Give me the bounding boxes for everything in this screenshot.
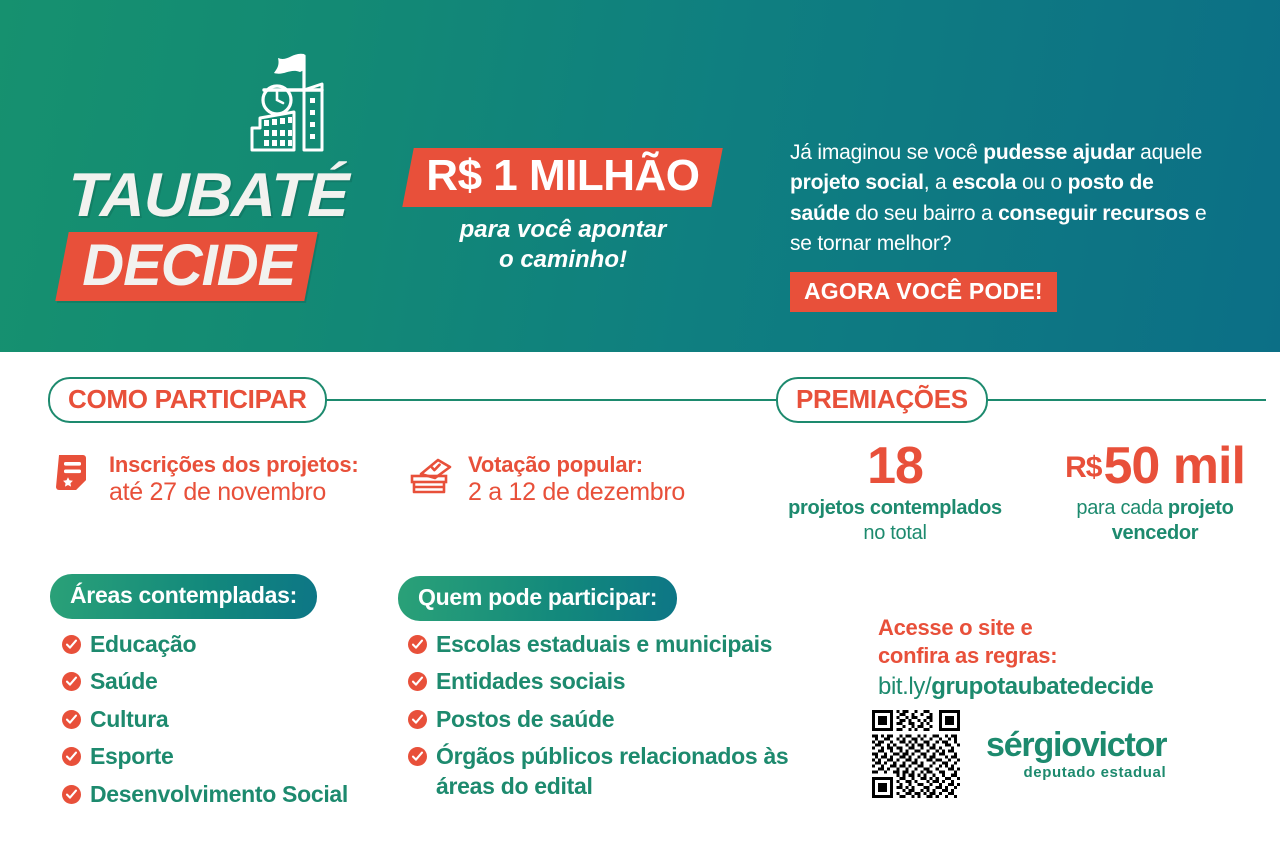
- signature-name: sérgiovictor: [986, 728, 1166, 762]
- signature-role: deputado estadual: [986, 764, 1166, 781]
- date-text-inscricoes: Inscrições dos projetos: até 27 de novem…: [109, 452, 359, 507]
- para-bold5: conseguir recursos: [998, 202, 1189, 225]
- date-text-votacao: Votação popular: 2 a 12 de dezembro: [468, 452, 685, 507]
- list-quem-pode-participar: Escolas estaduais e municipais Entidades…: [408, 630, 828, 809]
- list-item-label: Postos de saúde: [436, 705, 614, 734]
- list-item-label: Órgãos públicos relacionados às áreas do…: [436, 742, 828, 801]
- label-quem-text: Quem pode participar:: [418, 584, 657, 610]
- list-item: Educação: [62, 630, 402, 659]
- list-item-label: Entidades sociais: [436, 667, 625, 696]
- amount-banner: R$ 1 MILHÃO: [402, 148, 723, 207]
- site-info-block: Acesse o site e confira as regras: bit.l…: [878, 614, 1208, 702]
- prize-sub-rest-50: vencedor: [1112, 522, 1199, 544]
- logo-line-decide: DECIDE: [82, 236, 295, 295]
- qr-signature-row: sérgiovictor deputado estadual: [872, 710, 1166, 798]
- prize-value-50: R$50 mil: [1030, 440, 1280, 492]
- label-areas-contempladas: Áreas contempladas:: [50, 574, 317, 619]
- list-item: Cultura: [62, 705, 402, 734]
- date-value-votacao: 2 a 12 de dezembro: [468, 477, 685, 507]
- section-title-premiacoes: PREMIAÇÕES: [796, 384, 968, 414]
- site-url-slug: grupotaubatedecide: [931, 673, 1153, 700]
- list-item: Órgãos públicos relacionados às áreas do…: [408, 742, 828, 801]
- date-title-inscricoes: Inscrições dos projetos:: [109, 452, 359, 477]
- infographic-page: TAUBATÉ DECIDE R$ 1 MILHÃO para você apo…: [0, 0, 1280, 853]
- check-circle-icon: [62, 710, 81, 729]
- signature-logo: sérgiovictor deputado estadual: [986, 728, 1166, 781]
- logo-line-taubate: TAUBATÉ: [67, 165, 349, 227]
- amount-subtitle-line2: o caminho!: [408, 245, 718, 275]
- date-value-inscricoes: até 27 de novembro: [109, 477, 359, 507]
- section-title-como-participar: COMO PARTICIPAR: [68, 384, 307, 414]
- list-item-label: Desenvolvimento Social: [90, 780, 348, 809]
- prize-sub-plain-50: para cada: [1076, 497, 1168, 519]
- para-bold2: projeto social: [790, 171, 924, 194]
- list-item-label: Escolas estaduais e municipais: [436, 630, 772, 659]
- date-item-inscricoes: Inscrições dos projetos: até 27 de novem…: [55, 452, 359, 507]
- content-area: COMO PARTICIPAR PREMIAÇÕES: [0, 352, 1280, 853]
- city-hall-building-icon: [230, 46, 350, 158]
- site-url-prefix: bit.ly/: [878, 673, 931, 700]
- list-item-label: Esporte: [90, 742, 174, 771]
- campaign-logo: TAUBATÉ DECIDE: [62, 40, 392, 270]
- list-item: Desenvolvimento Social: [62, 780, 402, 809]
- check-circle-icon: [62, 672, 81, 691]
- para-bold1: pudesse ajudar: [983, 141, 1134, 164]
- check-circle-icon: [408, 710, 427, 729]
- list-item: Entidades sociais: [408, 667, 828, 696]
- prize-sub-bold-18: projetos contemplados: [788, 497, 1002, 519]
- section-pill-premiacoes: PREMIAÇÕES: [776, 377, 988, 423]
- check-circle-icon: [408, 635, 427, 654]
- intro-paragraph-block: Já imaginou se você pudesse ajudar aquel…: [790, 138, 1210, 312]
- section-rule-left: [708, 399, 776, 402]
- amount-subtitle-line1: para você apontar: [408, 215, 718, 245]
- prize-amount-per-project: R$50 mil para cada projeto vencedor: [1030, 440, 1280, 546]
- prize-sub-18: projetos contemplados no total: [770, 496, 1020, 546]
- section-rule-right: [327, 399, 715, 402]
- check-circle-icon: [62, 747, 81, 766]
- para-seg5: do seu bairro a: [850, 202, 998, 225]
- ballot-box-icon: [408, 452, 454, 503]
- para-seg3: , a: [924, 171, 952, 194]
- prize-sub-bold-50: projeto: [1168, 497, 1234, 519]
- qr-code[interactable]: [872, 710, 960, 798]
- para-seg4: ou o: [1016, 171, 1067, 194]
- para-seg1: Já imaginou se você: [790, 141, 983, 164]
- section-header-como-participar: COMO PARTICIPAR: [48, 380, 715, 420]
- section-pill-como-participar: COMO PARTICIPAR: [48, 377, 327, 423]
- list-item: Saúde: [62, 667, 402, 696]
- list-item: Escolas estaduais e municipais: [408, 630, 828, 659]
- section-rule-right: [988, 399, 1266, 402]
- header-banner: TAUBATÉ DECIDE R$ 1 MILHÃO para você apo…: [0, 0, 1280, 352]
- list-item: Esporte: [62, 742, 402, 771]
- prize-value-18: 18: [770, 440, 1020, 492]
- logo-line-decide-banner: DECIDE: [55, 232, 318, 301]
- section-header-premiacoes: PREMIAÇÕES: [708, 380, 1266, 420]
- check-circle-icon: [62, 635, 81, 654]
- list-item: Postos de saúde: [408, 705, 828, 734]
- date-title-votacao: Votação popular:: [468, 452, 685, 477]
- site-url[interactable]: bit.ly/grupotaubatedecide: [878, 671, 1208, 702]
- site-cta-line1: Acesse o site e: [878, 614, 1208, 642]
- list-item-label: Cultura: [90, 705, 168, 734]
- label-quem-pode-participar: Quem pode participar:: [398, 576, 677, 621]
- prize-number-50: 50 mil: [1103, 437, 1244, 495]
- para-bold3: escola: [952, 171, 1016, 194]
- prize-sub-rest-18: no total: [863, 522, 926, 544]
- check-circle-icon: [62, 785, 81, 804]
- site-cta-line2: confira as regras:: [878, 642, 1208, 670]
- check-circle-icon: [408, 747, 427, 766]
- agora-voce-pode-badge: AGORA VOCÊ PODE!: [790, 272, 1057, 312]
- amount-subtitle: para você apontar o caminho!: [408, 215, 718, 275]
- prize-sub-50: para cada projeto vencedor: [1030, 496, 1280, 546]
- prize-currency-50: R$: [1065, 451, 1101, 484]
- list-item-label: Saúde: [90, 667, 158, 696]
- document-star-icon: [55, 452, 95, 503]
- intro-paragraph: Já imaginou se você pudesse ajudar aquel…: [790, 138, 1210, 260]
- para-seg2: aquele: [1135, 141, 1203, 164]
- date-item-votacao: Votação popular: 2 a 12 de dezembro: [408, 452, 685, 507]
- amount-value: R$ 1 MILHÃO: [426, 153, 699, 199]
- prize-projects-count: 18 projetos contemplados no total: [770, 440, 1020, 546]
- check-circle-icon: [408, 672, 427, 691]
- amount-block: R$ 1 MILHÃO para você apontar o caminho!: [408, 148, 738, 275]
- list-item-label: Educação: [90, 630, 196, 659]
- list-areas-contempladas: Educação Saúde Cultura Esporte Desenvolv…: [62, 630, 402, 817]
- label-areas-text: Áreas contempladas:: [70, 582, 297, 608]
